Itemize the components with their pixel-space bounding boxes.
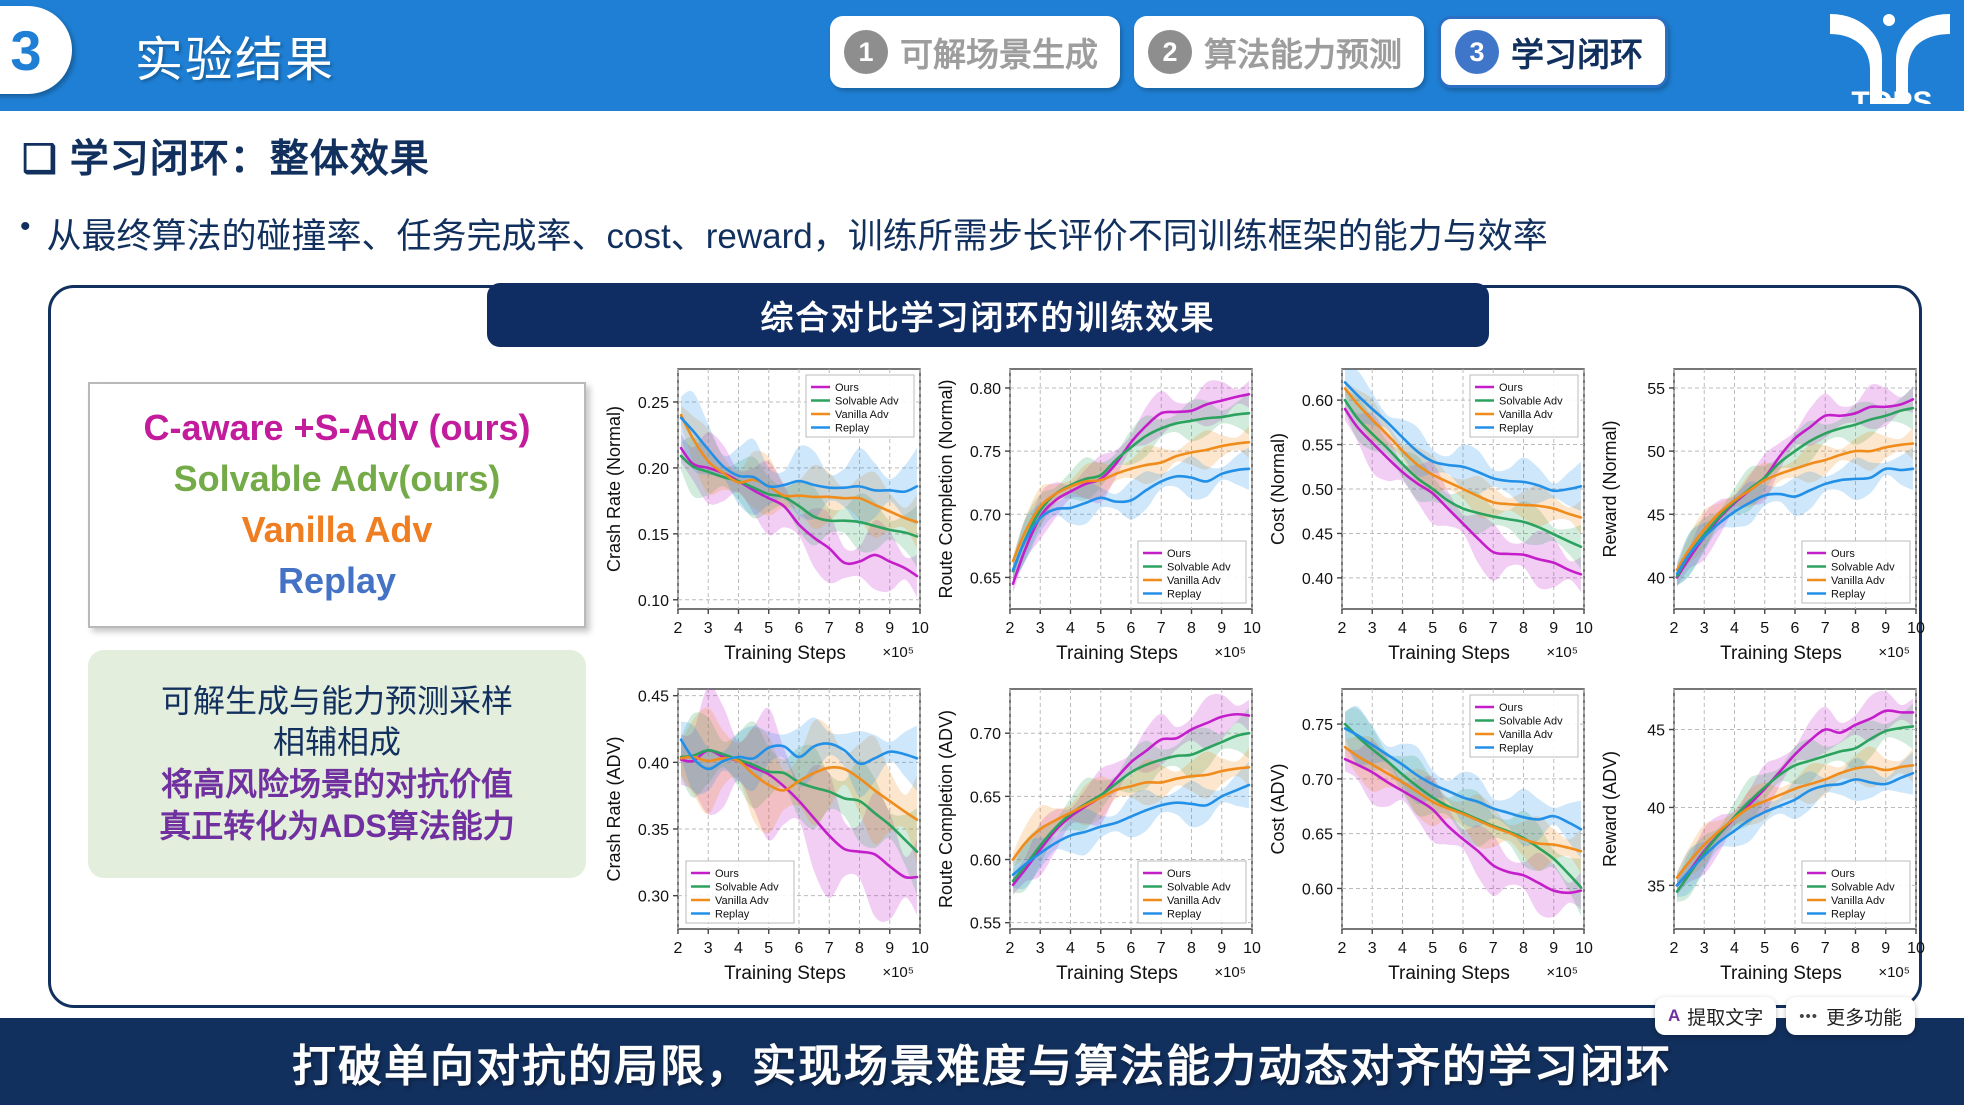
bullet-line: • 从最终算法的碰撞率、任务完成率、cost、reward，训练所需步长评价不同… [20, 208, 1920, 259]
floating-toolbar: A 提取文字 ••• 更多功能 [1655, 997, 1915, 1035]
svg-text:Vanilla Adv: Vanilla Adv [1499, 729, 1553, 741]
svg-text:7: 7 [1489, 940, 1498, 957]
svg-text:4: 4 [1730, 620, 1739, 637]
svg-text:3: 3 [704, 940, 713, 957]
note-line-4: 真正转化为ADS算法能力 [159, 806, 515, 848]
svg-text:0.80: 0.80 [970, 381, 1001, 398]
svg-text:Training Steps: Training Steps [1056, 643, 1178, 664]
section-title: 实验结果 [135, 20, 335, 90]
svg-text:8: 8 [1519, 620, 1528, 637]
section-number: 3 [0, 18, 42, 83]
bullet-marker: • [20, 208, 31, 246]
svg-text:×10⁵: ×10⁵ [1546, 644, 1578, 661]
svg-text:0.65: 0.65 [970, 570, 1001, 587]
svg-text:Training Steps: Training Steps [1056, 963, 1178, 984]
svg-text:Ours: Ours [715, 868, 739, 880]
svg-text:4: 4 [1398, 620, 1407, 637]
svg-text:Solvable Adv: Solvable Adv [1831, 562, 1895, 574]
chart-route-completion-adv: 23456789100.550.600.650.70Training Steps… [932, 675, 1264, 995]
svg-text:0.35: 0.35 [638, 822, 669, 839]
svg-text:4: 4 [1398, 940, 1407, 957]
svg-text:2: 2 [1338, 940, 1347, 957]
method-legend-item: Solvable Adv(ours) [174, 455, 501, 504]
svg-text:40: 40 [1647, 800, 1665, 817]
svg-text:0.20: 0.20 [638, 461, 669, 478]
svg-text:Ours: Ours [1167, 548, 1191, 560]
svg-text:Route Completion (Normal): Route Completion (Normal) [936, 379, 956, 598]
svg-text:Replay: Replay [1831, 909, 1866, 921]
svg-text:0.60: 0.60 [970, 853, 1001, 870]
tops-logo: TOPS [1826, 0, 1958, 116]
svg-text:5: 5 [1760, 620, 1769, 637]
svg-text:Ours: Ours [1831, 548, 1855, 560]
svg-text:10: 10 [1243, 620, 1261, 637]
svg-text:0.45: 0.45 [638, 689, 669, 706]
footer-text: 打破单向对抗的局限，实现场景难度与算法能力动态对齐的学习闭环 [292, 1030, 1672, 1094]
svg-text:10: 10 [911, 940, 929, 957]
svg-text:4: 4 [734, 940, 743, 957]
svg-text:5: 5 [1096, 940, 1105, 957]
svg-text:4: 4 [1066, 940, 1075, 957]
svg-text:Solvable Adv: Solvable Adv [835, 396, 899, 408]
svg-text:Vanilla Adv: Vanilla Adv [1167, 575, 1221, 587]
extract-text-button[interactable]: A 提取文字 [1655, 997, 1776, 1035]
svg-text:3: 3 [1368, 620, 1377, 637]
svg-text:×10⁵: ×10⁵ [1214, 964, 1246, 981]
svg-text:Vanilla Adv: Vanilla Adv [835, 409, 889, 421]
svg-text:0.40: 0.40 [1302, 571, 1333, 588]
svg-text:0.65: 0.65 [970, 789, 1001, 806]
svg-text:Reward (Normal): Reward (Normal) [1600, 420, 1620, 557]
svg-text:5: 5 [1428, 620, 1437, 637]
chart-svg-cost-adv: 23456789100.600.650.700.75Training Steps… [1264, 675, 1596, 995]
method-legend-item: Replay [278, 557, 396, 606]
chart-route-completion-normal: 23456789100.650.700.750.80Training Steps… [932, 355, 1264, 675]
svg-text:Solvable Adv: Solvable Adv [1167, 882, 1231, 894]
svg-text:×10⁵: ×10⁵ [1878, 964, 1910, 981]
svg-text:0.15: 0.15 [638, 527, 669, 544]
panel-title: 综合对比学习闭环的训练效果 [487, 283, 1489, 347]
svg-text:7: 7 [825, 940, 834, 957]
svg-text:50: 50 [1647, 444, 1665, 461]
progress-chips: 1可解场景生成2算法能力预测3学习闭环 [830, 16, 1668, 88]
svg-text:10: 10 [1907, 620, 1925, 637]
svg-text:8: 8 [855, 620, 864, 637]
svg-text:0.45: 0.45 [1302, 526, 1333, 543]
svg-text:Solvable Adv: Solvable Adv [1499, 396, 1563, 408]
svg-text:0.75: 0.75 [970, 444, 1001, 461]
extract-text-icon: A [1668, 1006, 1679, 1026]
svg-text:Solvable Adv: Solvable Adv [715, 882, 779, 894]
svg-text:9: 9 [885, 620, 894, 637]
svg-text:0.65: 0.65 [1302, 827, 1333, 844]
svg-text:9: 9 [1217, 620, 1226, 637]
svg-text:4: 4 [1066, 620, 1075, 637]
page-title: ❑ 学习闭环：整体效果 [22, 128, 430, 184]
svg-text:9: 9 [1549, 940, 1558, 957]
svg-text:9: 9 [885, 940, 894, 957]
svg-text:×10⁵: ×10⁵ [1546, 964, 1578, 981]
svg-text:40: 40 [1647, 570, 1665, 587]
chart-svg-route-completion-adv: 23456789100.550.600.650.70Training Steps… [932, 675, 1264, 995]
svg-text:7: 7 [1157, 620, 1166, 637]
progress-chip-3[interactable]: 3学习闭环 [1438, 16, 1668, 88]
svg-text:0.70: 0.70 [1302, 772, 1333, 789]
svg-text:0.60: 0.60 [1302, 393, 1333, 410]
svg-text:Replay: Replay [715, 909, 750, 921]
note-line-3: 将高风险场景的对抗价值 [161, 764, 513, 806]
svg-text:35: 35 [1647, 878, 1665, 895]
svg-text:6: 6 [795, 620, 804, 637]
svg-text:Crash Rate (ADV): Crash Rate (ADV) [604, 736, 624, 881]
note-line-1: 可解生成与能力预测采样 [161, 681, 513, 723]
svg-text:Ours: Ours [835, 382, 859, 394]
svg-text:2: 2 [1006, 620, 1015, 637]
svg-text:Training Steps: Training Steps [1388, 643, 1510, 664]
chip-number-badge: 1 [844, 30, 888, 74]
svg-text:5: 5 [1096, 620, 1105, 637]
chip-number-badge: 2 [1148, 30, 1192, 74]
svg-text:5: 5 [1428, 940, 1437, 957]
svg-text:55: 55 [1647, 381, 1665, 398]
chart-grid: 23456789100.100.150.200.25Training Steps… [600, 355, 1930, 995]
logo-text: TOPS [1851, 86, 1932, 116]
svg-text:Replay: Replay [835, 423, 870, 435]
svg-text:5: 5 [764, 620, 773, 637]
chip-label: 算法能力预测 [1204, 28, 1402, 76]
svg-text:9: 9 [1549, 620, 1558, 637]
svg-text:9: 9 [1217, 940, 1226, 957]
bullet-text: 从最终算法的碰撞率、任务完成率、cost、reward，训练所需步长评价不同训练… [47, 208, 1548, 259]
chip-label: 学习闭环 [1511, 28, 1643, 76]
chart-crash-rate-normal: 23456789100.100.150.200.25Training Steps… [600, 355, 932, 675]
svg-text:Replay: Replay [1499, 743, 1534, 755]
chart-cost-normal: 23456789100.400.450.500.550.60Training S… [1264, 355, 1596, 675]
progress-chip-2[interactable]: 2算法能力预测 [1134, 16, 1424, 88]
svg-text:6: 6 [1459, 940, 1468, 957]
svg-text:Replay: Replay [1499, 423, 1534, 435]
svg-text:Vanilla Adv: Vanilla Adv [715, 895, 769, 907]
svg-text:0.70: 0.70 [970, 507, 1001, 524]
svg-text:Ours: Ours [1167, 868, 1191, 880]
svg-text:Vanilla Adv: Vanilla Adv [1831, 895, 1885, 907]
svg-text:Vanilla Adv: Vanilla Adv [1167, 895, 1221, 907]
chip-number-badge: 3 [1455, 30, 1499, 74]
svg-text:×10⁵: ×10⁵ [882, 644, 914, 661]
svg-text:Training Steps: Training Steps [1388, 963, 1510, 984]
svg-text:7: 7 [1489, 620, 1498, 637]
svg-text:Replay: Replay [1167, 909, 1202, 921]
chart-svg-cost-normal: 23456789100.400.450.500.550.60Training S… [1264, 355, 1596, 675]
svg-text:8: 8 [1187, 940, 1196, 957]
svg-text:2: 2 [1338, 620, 1347, 637]
svg-text:Reward (ADV): Reward (ADV) [1600, 751, 1620, 867]
note-line-2: 相辅相成 [273, 722, 401, 764]
svg-text:7: 7 [1821, 620, 1830, 637]
svg-text:6: 6 [1127, 620, 1136, 637]
svg-text:6: 6 [1459, 620, 1468, 637]
svg-text:10: 10 [1575, 940, 1593, 957]
svg-text:2: 2 [674, 620, 683, 637]
svg-text:×10⁵: ×10⁵ [882, 964, 914, 981]
method-legend-item: C-aware +S-Adv (ours) [143, 404, 530, 453]
svg-text:8: 8 [1851, 940, 1860, 957]
svg-text:0.55: 0.55 [1302, 438, 1333, 455]
svg-text:7: 7 [825, 620, 834, 637]
svg-text:×10⁵: ×10⁵ [1878, 644, 1910, 661]
svg-text:45: 45 [1647, 507, 1665, 524]
svg-text:3: 3 [704, 620, 713, 637]
svg-text:0.50: 0.50 [1302, 482, 1333, 499]
svg-text:0.25: 0.25 [638, 395, 669, 412]
svg-text:Vanilla Adv: Vanilla Adv [1831, 575, 1885, 587]
method-legend-item: Vanilla Adv [242, 506, 433, 555]
svg-text:Solvable Adv: Solvable Adv [1167, 562, 1231, 574]
svg-text:7: 7 [1821, 940, 1830, 957]
chart-cost-adv: 23456789100.600.650.700.75Training Steps… [1264, 675, 1596, 995]
svg-text:Vanilla Adv: Vanilla Adv [1499, 409, 1553, 421]
svg-text:3: 3 [1036, 940, 1045, 957]
chart-svg-crash-rate-normal: 23456789100.100.150.200.25Training Steps… [600, 355, 932, 675]
svg-text:3: 3 [1700, 940, 1709, 957]
conclusion-note-box: 可解生成与能力预测采样 相辅相成 将高风险场景的对抗价值 真正转化为ADS算法能… [88, 650, 586, 878]
svg-text:3: 3 [1368, 940, 1377, 957]
svg-text:Training Steps: Training Steps [724, 963, 846, 984]
svg-text:6: 6 [795, 940, 804, 957]
svg-text:8: 8 [855, 940, 864, 957]
chart-crash-rate-adv: 23456789100.300.350.400.45Training Steps… [600, 675, 932, 995]
svg-text:10: 10 [911, 620, 929, 637]
chart-reward-adv: 2345678910354045Training Steps×10⁵Reward… [1596, 675, 1928, 995]
svg-text:2: 2 [1670, 940, 1679, 957]
svg-text:5: 5 [764, 940, 773, 957]
more-functions-label: 更多功能 [1826, 1003, 1902, 1030]
extract-text-label: 提取文字 [1687, 1003, 1763, 1030]
method-legend-box: C-aware +S-Adv (ours)Solvable Adv(ours)V… [88, 382, 586, 628]
svg-text:2: 2 [1670, 620, 1679, 637]
svg-text:Ours: Ours [1831, 868, 1855, 880]
svg-text:Ours: Ours [1499, 702, 1523, 714]
svg-text:Ours: Ours [1499, 382, 1523, 394]
svg-text:0.60: 0.60 [1302, 881, 1333, 898]
svg-text:3: 3 [1700, 620, 1709, 637]
chip-label: 可解场景生成 [900, 28, 1098, 76]
svg-text:Training Steps: Training Steps [724, 643, 846, 664]
svg-text:Cost (ADV): Cost (ADV) [1268, 763, 1288, 854]
svg-text:2: 2 [674, 940, 683, 957]
svg-text:Training Steps: Training Steps [1720, 643, 1842, 664]
svg-text:Cost (Normal): Cost (Normal) [1268, 433, 1288, 545]
svg-text:3: 3 [1036, 620, 1045, 637]
svg-text:Replay: Replay [1831, 589, 1866, 601]
svg-text:0.55: 0.55 [970, 916, 1001, 933]
svg-text:8: 8 [1851, 620, 1860, 637]
header-underline [0, 104, 1964, 111]
more-functions-button[interactable]: ••• 更多功能 [1786, 997, 1915, 1035]
svg-text:4: 4 [734, 620, 743, 637]
progress-chip-1[interactable]: 1可解场景生成 [830, 16, 1120, 88]
section-number-badge: 3 [0, 6, 72, 94]
svg-text:5: 5 [1760, 940, 1769, 957]
chart-svg-route-completion-normal: 23456789100.650.700.750.80Training Steps… [932, 355, 1264, 675]
more-dots-icon: ••• [1799, 1008, 1818, 1025]
svg-text:0.30: 0.30 [638, 889, 669, 906]
svg-text:6: 6 [1791, 620, 1800, 637]
svg-text:9: 9 [1881, 620, 1890, 637]
slide-header: 3 实验结果 1可解场景生成2算法能力预测3学习闭环 TOPS [0, 0, 1964, 104]
svg-text:6: 6 [1127, 940, 1136, 957]
svg-text:Solvable Adv: Solvable Adv [1499, 716, 1563, 728]
svg-text:0.70: 0.70 [970, 726, 1001, 743]
svg-text:2: 2 [1006, 940, 1015, 957]
svg-text:×10⁵: ×10⁵ [1214, 644, 1246, 661]
svg-text:6: 6 [1791, 940, 1800, 957]
svg-text:0.40: 0.40 [638, 755, 669, 772]
svg-text:10: 10 [1243, 940, 1261, 957]
svg-text:7: 7 [1157, 940, 1166, 957]
svg-text:0.10: 0.10 [638, 593, 669, 610]
svg-text:8: 8 [1187, 620, 1196, 637]
svg-text:4: 4 [1730, 940, 1739, 957]
chart-reward-normal: 234567891040455055Training Steps×10⁵Rewa… [1596, 355, 1928, 675]
svg-text:Replay: Replay [1167, 589, 1202, 601]
svg-text:Route Completion (ADV): Route Completion (ADV) [936, 710, 956, 908]
svg-text:9: 9 [1881, 940, 1890, 957]
svg-text:10: 10 [1575, 620, 1593, 637]
svg-text:Solvable Adv: Solvable Adv [1831, 882, 1895, 894]
svg-text:Crash Rate (Normal): Crash Rate (Normal) [604, 406, 624, 572]
svg-text:10: 10 [1907, 940, 1925, 957]
chart-svg-crash-rate-adv: 23456789100.300.350.400.45Training Steps… [600, 675, 932, 995]
svg-text:0.75: 0.75 [1302, 717, 1333, 734]
chart-svg-reward-normal: 234567891040455055Training Steps×10⁵Rewa… [1596, 355, 1928, 675]
svg-text:8: 8 [1519, 940, 1528, 957]
svg-text:45: 45 [1647, 723, 1665, 740]
chart-svg-reward-adv: 2345678910354045Training Steps×10⁵Reward… [1596, 675, 1928, 995]
svg-text:Training Steps: Training Steps [1720, 963, 1842, 984]
